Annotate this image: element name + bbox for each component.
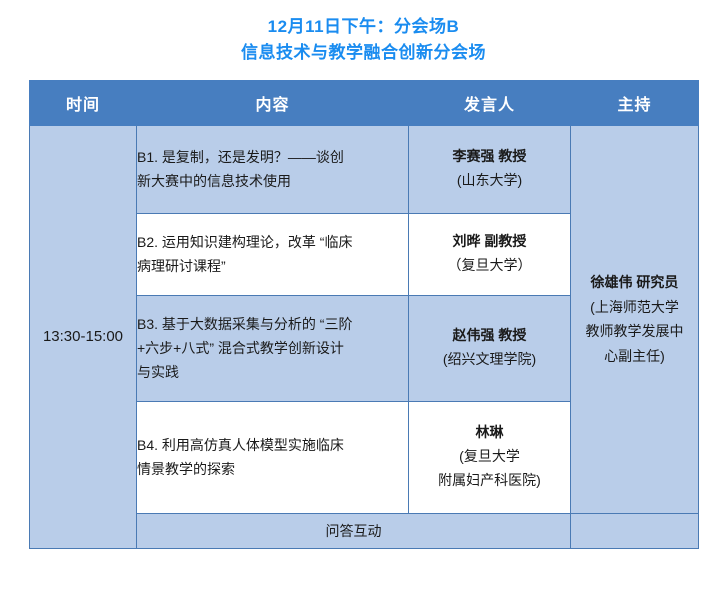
speaker-org: （复旦大学）	[409, 254, 570, 278]
cell-speaker-b1: 李赛强 教授 (山东大学)	[409, 125, 571, 213]
host-org-line-3: 心副主任)	[571, 344, 698, 369]
cell-speaker-b3: 赵伟强 教授 (绍兴文理学院)	[409, 295, 571, 401]
speaker-org: (山东大学)	[409, 169, 570, 193]
column-header-speaker: 发言人	[409, 80, 571, 125]
column-header-time: 时间	[30, 80, 137, 125]
agenda-page: 12月11日下午：分会场B 信息技术与教学融合创新分会场 时间 内容 发言人 主…	[0, 0, 727, 601]
table-header-row: 时间 内容 发言人 主持	[30, 80, 699, 125]
speaker-name: 赵伟强 教授	[409, 324, 570, 348]
content-line: B3. 基于大数据采集与分析的 “三阶	[137, 312, 408, 336]
cell-host: 徐雄伟 研究员 (上海师范大学 教师教学发展中 心副主任)	[571, 125, 699, 513]
speaker-name: 林琳	[409, 421, 570, 445]
host-org-line-1: (上海师范大学	[571, 295, 698, 320]
content-line: 病理研讨课程”	[137, 254, 408, 278]
page-title: 12月11日下午：分会场B 信息技术与教学融合创新分会场	[0, 0, 727, 67]
title-line-2: 信息技术与教学融合创新分会场	[0, 40, 727, 66]
speaker-name: 刘晔 副教授	[409, 230, 570, 254]
content-line: 与实践	[137, 360, 408, 384]
table-row: 13:30-15:00 B1. 是复制，还是发明？——谈创 新大赛中的信息技术使…	[30, 125, 699, 213]
agenda-table: 时间 内容 发言人 主持 13:30-15:00 B1. 是复制，还是发明？——…	[29, 80, 699, 549]
cell-content-b1: B1. 是复制，还是发明？——谈创 新大赛中的信息技术使用	[137, 125, 409, 213]
column-header-content: 内容	[137, 80, 409, 125]
content-line: 新大赛中的信息技术使用	[137, 169, 408, 193]
agenda-table-wrapper: 时间 内容 发言人 主持 13:30-15:00 B1. 是复制，还是发明？——…	[29, 80, 698, 549]
cell-content-b3: B3. 基于大数据采集与分析的 “三阶 +六步+八式” 混合式教学创新设计 与实…	[137, 295, 409, 401]
column-header-host: 主持	[571, 80, 699, 125]
cell-speaker-b4: 林琳 (复旦大学 附属妇产科医院)	[409, 401, 571, 513]
cell-qa-host-spacer	[571, 513, 699, 548]
content-line: B1. 是复制，还是发明？——谈创	[137, 145, 408, 169]
speaker-name: 李赛强 教授	[409, 145, 570, 169]
speaker-org: (绍兴文理学院)	[409, 348, 570, 372]
content-line: +六步+八式” 混合式教学创新设计	[137, 336, 408, 360]
content-line: B4. 利用高仿真人体模型实施临床	[137, 433, 408, 457]
cell-speaker-b2: 刘晔 副教授 （复旦大学）	[409, 213, 571, 295]
content-line: B2. 运用知识建构理论，改革 “临床	[137, 230, 408, 254]
host-name: 徐雄伟 研究员	[571, 270, 698, 295]
content-line: 情景教学的探索	[137, 457, 408, 481]
cell-content-b2: B2. 运用知识建构理论，改革 “临床 病理研讨课程”	[137, 213, 409, 295]
cell-qa-label: 问答互动	[137, 513, 571, 548]
speaker-org-line-2: 附属妇产科医院)	[409, 469, 570, 493]
host-org-line-2: 教师教学发展中	[571, 319, 698, 344]
speaker-org-line-1: (复旦大学	[409, 445, 570, 469]
cell-time-slot: 13:30-15:00	[30, 125, 137, 548]
title-line-1: 12月11日下午：分会场B	[0, 14, 727, 40]
cell-content-b4: B4. 利用高仿真人体模型实施临床 情景教学的探索	[137, 401, 409, 513]
